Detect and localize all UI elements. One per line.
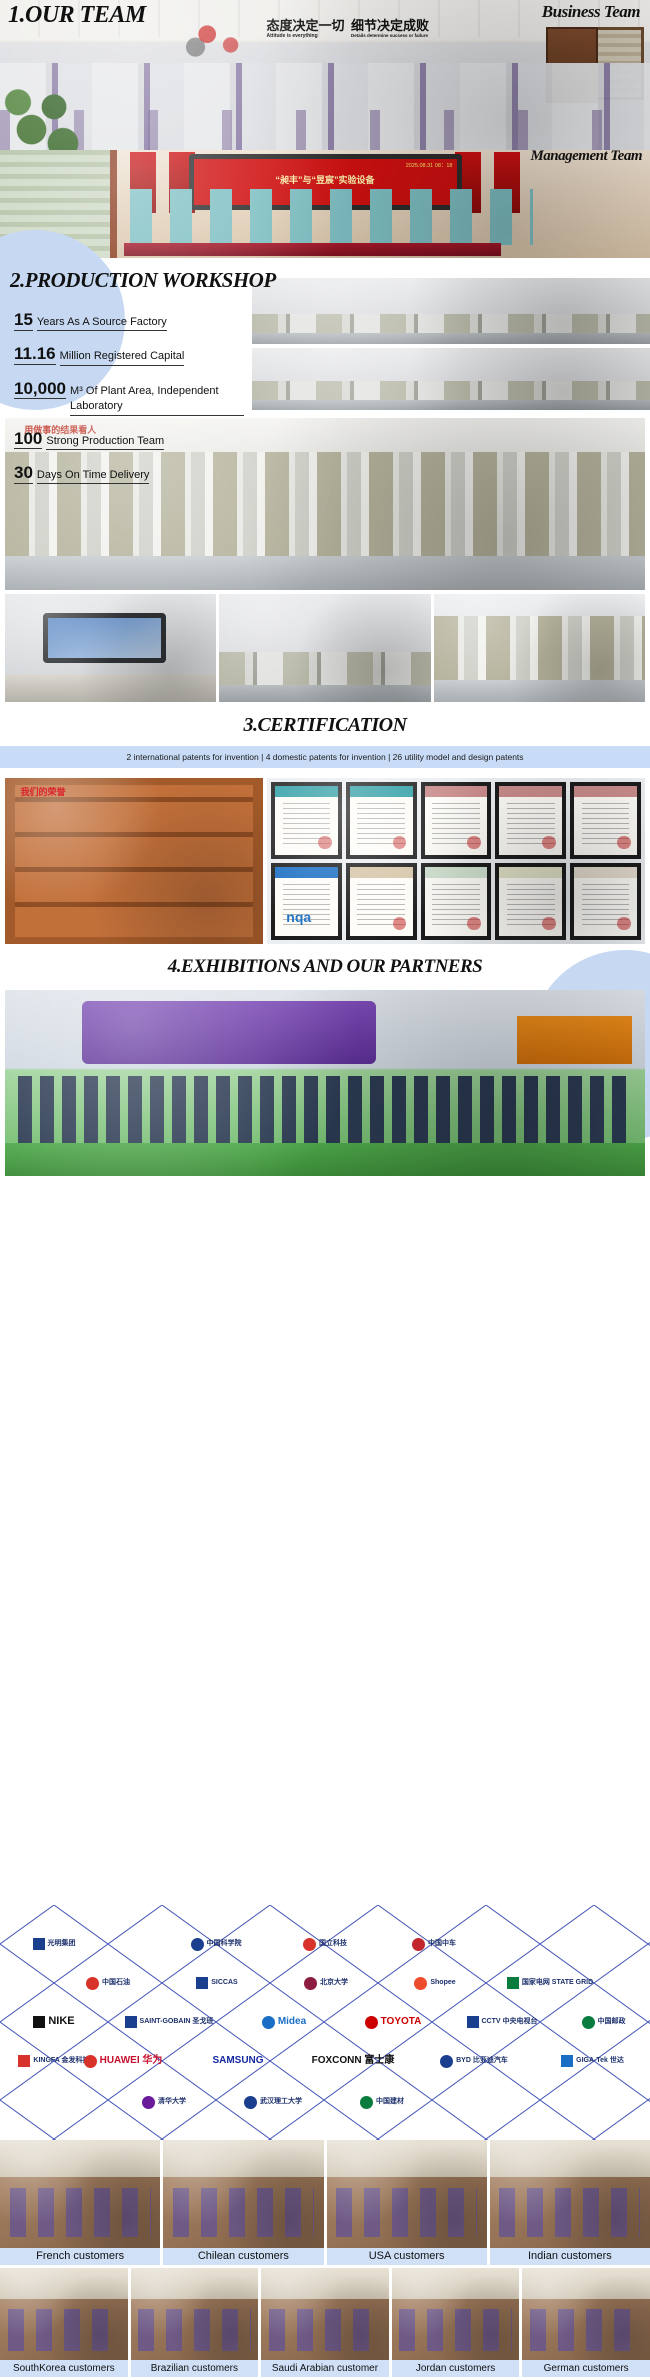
partner-mark-icon	[142, 2096, 155, 2109]
factory-stats-list: 15 Years As A Source Factory 11.16 Milli…	[14, 310, 244, 497]
partner-logo: FOXCONN 富士康	[293, 2040, 413, 2082]
partner-name: FOXCONN 富士康	[312, 2056, 395, 2067]
partner-mark-icon	[467, 2016, 479, 2028]
customer-photo-southkorea	[0, 2268, 128, 2360]
caption-saudi: Saudi Arabian customer	[261, 2360, 389, 2377]
section-title-certification: 3.CERTIFICATION	[0, 714, 650, 737]
cnc-line-photo	[434, 594, 645, 702]
certificate-frame	[570, 863, 641, 940]
stat-number: 100	[14, 429, 42, 450]
customer-photo-saudi	[261, 2268, 389, 2360]
partner-name: 中国石油	[102, 1979, 130, 1986]
desk	[5, 674, 216, 702]
partner-logo: GIGA-Tek 世达	[535, 2040, 650, 2082]
partner-logo: 北京大学	[272, 1962, 380, 2004]
workshop-floor	[5, 556, 645, 590]
section-title-production: 2.PRODUCTION WORKSHOP	[10, 268, 276, 293]
section-title-our-team: 1.OUR TEAM	[8, 2, 146, 29]
label-management-team: Management Team	[530, 148, 642, 165]
partner-logo: HUAWEI 华为	[63, 2040, 183, 2082]
staff-group	[18, 1076, 632, 1143]
partner-name: 中国建材	[376, 2098, 404, 2105]
wall-decal-red	[176, 17, 254, 60]
workshop-photo-row	[5, 594, 645, 702]
partners-section: 光明集团 中国科学院 国立科技 中国中车 中国石油 SICCAS 北京大学 Sh…	[0, 1905, 650, 2140]
partner-logo: BYD 比亚迪汽车	[414, 2040, 534, 2082]
stat-text: Days On Time Delivery	[37, 468, 149, 484]
section-title-exhibitions: 4.EXHIBITIONS AND OUR PARTNERS	[0, 956, 650, 978]
wall-slogan-en-1: Attitude is everything	[267, 33, 318, 39]
partner-mark-icon	[196, 1977, 208, 1989]
certificate-frame	[346, 782, 417, 859]
stat-text: Years As A Source Factory	[37, 315, 167, 331]
partner-logo: Midea	[230, 2001, 338, 2043]
partner-mark-icon	[303, 1938, 316, 1951]
certificates-photo: nqa	[267, 778, 645, 944]
stat-number: 10,000	[14, 379, 66, 400]
partner-name: HUAWEI 华为	[100, 2056, 163, 2067]
caption-french: French customers	[0, 2248, 160, 2265]
customer-captions-bottom: SouthKorea customers Brazilian customers…	[0, 2360, 650, 2377]
partner-logo: SAMSUNG	[184, 2040, 292, 2082]
certificate-frame	[271, 782, 342, 859]
partner-mark-icon	[507, 1977, 519, 1989]
assembly-photo	[219, 594, 430, 702]
caption-brazilian: Brazilian customers	[131, 2360, 259, 2377]
monitor-station-photo	[5, 594, 216, 702]
partner-logo: SICCAS	[163, 1962, 271, 2004]
stat-text: Strong Production Team	[46, 434, 164, 450]
partner-logo: 武汉理工大学	[219, 2081, 327, 2123]
certificate-frame	[421, 863, 492, 940]
partner-name: 光明集团	[48, 1940, 76, 1947]
section-our-team: 态度决定一切 Attitude is everything 细节决定成败 Det…	[0, 0, 650, 258]
section-certification: 3.CERTIFICATION 2 international patents …	[0, 708, 650, 1178]
caption-german: German customers	[522, 2360, 650, 2377]
stat-number: 30	[14, 463, 33, 484]
partner-name: SAINT-GOBAIN 圣戈班	[140, 2018, 214, 2025]
customer-photo-jordan	[392, 2268, 520, 2360]
partner-name: CCTV 中央电视台	[482, 2018, 538, 2025]
caption-indian: Indian customers	[490, 2248, 650, 2265]
partner-mark-icon	[365, 2016, 378, 2029]
partner-name: SICCAS	[211, 1979, 237, 1986]
customer-photo-brazilian	[131, 2268, 259, 2360]
certificate-frame	[346, 863, 417, 940]
partner-mark-icon	[244, 2096, 257, 2109]
customer-photo-row-top	[0, 2140, 650, 2248]
customer-photo-row-bottom	[0, 2268, 650, 2360]
nqa-logo: nqa	[286, 909, 311, 925]
stat-item: 100 Strong Production Team	[14, 429, 244, 450]
wall-slogan-cn-1: 态度决定一切	[267, 15, 345, 34]
partner-logo: 中国中车	[380, 1923, 488, 1965]
caption-chilean: Chilean customers	[163, 2248, 323, 2265]
partner-logo: 国立科技	[271, 1923, 379, 1965]
partner-logo: TOYOTA	[339, 2001, 447, 2043]
partner-mark-icon	[125, 2016, 137, 2028]
certificate-frame	[421, 782, 492, 859]
partner-name: BYD 比亚迪汽车	[456, 2057, 508, 2064]
caption-southkorea: SouthKorea customers	[0, 2360, 128, 2377]
partner-name: TOYOTA	[381, 2017, 422, 2028]
partner-logo: Shopee	[381, 1962, 489, 2004]
wall-slogan-en-2: Details determine success or failure	[351, 33, 428, 38]
banner-date: 2025.08.31 08：18	[406, 161, 453, 169]
meeting-table	[124, 243, 501, 256]
stat-item: 15 Years As A Source Factory	[14, 310, 244, 331]
section-production-workshop: 2.PRODUCTION WORKSHOP 15 Years As A Sour…	[0, 258, 650, 708]
workshop-floor	[434, 680, 645, 702]
stat-text: Million Registered Capital	[60, 349, 185, 365]
customer-photo-indian	[490, 2140, 650, 2248]
partner-logo: 清华大学	[110, 2081, 218, 2123]
partner-logo: 光明集团	[0, 1923, 108, 1965]
stat-number: 11.16	[14, 344, 56, 365]
partner-logo: 中国石油	[54, 1962, 162, 2004]
stat-item: 11.16 Million Registered Capital	[14, 344, 244, 365]
partner-logo: SAINT-GOBAIN 圣戈班	[109, 2001, 229, 2043]
exhibition-photo	[5, 990, 645, 1176]
customer-photos-bottom	[0, 2268, 650, 2360]
customer-photo-chilean	[163, 2140, 323, 2248]
wall-slogan-cn-2: 细节决定成败	[351, 15, 429, 34]
stat-item: 10,000 M³ Of Plant Area, Independent Lab…	[14, 379, 244, 416]
booth-signage	[82, 1001, 376, 1064]
stat-number: 15	[14, 310, 33, 331]
partner-mark-icon	[86, 1977, 99, 1990]
trophy-shelf-photo: 我们的荣誉	[5, 778, 263, 944]
customer-photo-german	[522, 2268, 650, 2360]
machine-photo-top	[252, 278, 650, 344]
certification-photo-row: 我们的荣誉 nqa	[5, 778, 645, 944]
partner-mark-icon	[440, 2055, 453, 2068]
caption-usa: USA customers	[327, 2248, 487, 2265]
partner-name: 中国科学院	[207, 1940, 242, 1947]
staff-row	[130, 189, 533, 245]
partner-name: 北京大学	[320, 1979, 348, 1986]
partner-logo: NIKE	[0, 2001, 108, 2043]
computer-monitor	[43, 613, 166, 663]
partner-mark-icon	[412, 1938, 425, 1951]
stat-item: 30 Days On Time Delivery	[14, 463, 244, 484]
partner-name: Midea	[278, 2017, 306, 2028]
floor-strip	[219, 685, 430, 702]
banner-title: “昶丰”与“昱宸”实验设备	[194, 173, 457, 186]
partner-logo: 国家电网 STATE GRID	[490, 1962, 610, 2004]
stat-text: M³ Of Plant Area, Independent Laboratory	[70, 384, 244, 416]
partner-logo: CCTV 中央电视台	[448, 2001, 556, 2043]
partner-logo: 中国科学院	[162, 1923, 270, 1965]
huawei-fan-icon	[84, 2055, 97, 2068]
certificate-frame-nqa: nqa	[271, 863, 342, 940]
booth-orange	[517, 1016, 632, 1064]
partner-name: 中国中车	[428, 1940, 456, 1947]
customer-captions-top: French customers Chilean customers USA c…	[0, 2248, 650, 2265]
partner-mark-icon	[18, 2055, 30, 2067]
management-team-photo: 2025.08.31 08：18 “昶丰”与“昱宸”实验设备	[0, 150, 650, 258]
machine-row	[434, 616, 645, 683]
partner-name: 国家电网 STATE GRID	[522, 1979, 593, 1986]
certificate-frame	[495, 782, 566, 859]
partner-name: SAMSUNG	[212, 2056, 263, 2067]
caption-jordan: Jordan customers	[392, 2360, 520, 2377]
machine-photo-bottom	[252, 348, 650, 410]
partner-mark-icon	[561, 2055, 573, 2067]
floor-strip	[252, 333, 650, 344]
partner-mark-icon	[414, 1977, 427, 1990]
partner-mark-icon	[262, 2016, 275, 2029]
customer-photo-french	[0, 2140, 160, 2248]
certificate-frame	[570, 782, 641, 859]
certificate-grid: nqa	[269, 780, 643, 942]
customer-photo-usa	[327, 2140, 487, 2248]
shelf-banner-cn: 我们的荣誉	[20, 785, 65, 798]
partner-mark-icon	[191, 1938, 204, 1951]
partner-name: 清华大学	[158, 2098, 186, 2105]
partner-name: NIKE	[48, 2016, 74, 2028]
certificate-frame	[495, 863, 566, 940]
partner-mark-icon	[360, 2096, 373, 2109]
nike-swoosh-icon	[33, 2016, 45, 2028]
partner-name: GIGA-Tek 世达	[576, 2057, 624, 2064]
floor-strip	[252, 400, 650, 410]
partner-mark-icon	[582, 2016, 595, 2029]
partner-logo: 中国建材	[328, 2081, 436, 2123]
partner-mark-icon	[304, 1977, 317, 1990]
partner-name: 武汉理工大学	[260, 2098, 302, 2105]
partner-logo: 中国邮政	[557, 2001, 650, 2043]
green-carpet	[5, 1143, 645, 1176]
partner-mark-icon	[33, 1938, 45, 1950]
partner-name: Shopee	[430, 1979, 455, 1986]
patent-banner: 2 international patents for invention | …	[0, 746, 650, 768]
partner-name: 国立科技	[319, 1940, 347, 1947]
partner-name: 中国邮政	[598, 2018, 626, 2025]
customer-photos-top	[0, 2140, 650, 2248]
label-business-team: Business Team	[542, 2, 640, 22]
